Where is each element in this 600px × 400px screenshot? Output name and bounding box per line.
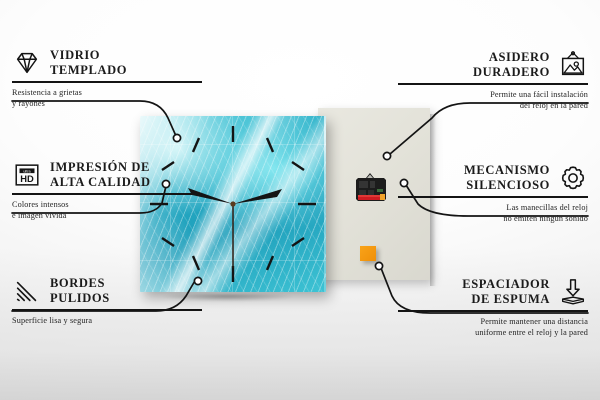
ultra-hd-icon-large-text: HD [20, 174, 34, 184]
feature-description-line1: Las manecillas del reloj [398, 202, 588, 213]
feature-description-line1: Permite mantener una distancia [398, 316, 588, 327]
divider [12, 309, 202, 311]
divider [12, 81, 202, 83]
feature-title-line1: ESPACIADOR [462, 277, 550, 292]
feature-title-line2: DE ESPUMA [462, 292, 550, 307]
feature-description-line1: Superficie lisa y segura [12, 315, 202, 326]
gear-icon [558, 163, 588, 193]
connector-dot-asidero [383, 152, 390, 159]
hanging-picture-icon [558, 50, 588, 80]
divider [12, 193, 202, 195]
feature-description-line1: Permite una fácil instalación [398, 89, 588, 100]
feature-description-line2: no emiten ningún sonido [398, 213, 588, 224]
diagonal-stripes-icon [12, 276, 42, 306]
feature-title-line2: TEMPLADO [50, 63, 127, 78]
feature-description-line1: Resistencia a grietas [12, 87, 202, 98]
divider [398, 310, 588, 312]
feature-title-line1: VIDRIO [50, 48, 127, 63]
diamond-icon [12, 48, 42, 78]
connector-dot-vidrio [173, 134, 180, 141]
feature-description-line2: del reloj en la pared [398, 100, 588, 111]
arrow-down-stack-icon [558, 277, 588, 307]
feature-title-line1: BORDES [50, 276, 110, 291]
divider [398, 196, 588, 198]
feature-title-line2: DURADERO [473, 65, 550, 80]
feature-title-line2: PULIDOS [50, 291, 110, 306]
ultra-hd-icon: ultra HD [12, 160, 42, 190]
feature-description-line2: e imagen vívida [12, 210, 202, 221]
feature-mecanismo-silencioso: MECANISMO SILENCIOSO Las manecillas del … [398, 163, 588, 224]
product-infographic: VIDRIO TEMPLADO Resistencia a grietas y … [0, 0, 600, 400]
connector-dot-espaciador [375, 262, 382, 269]
feature-espaciador-de-espuma: ESPACIADOR DE ESPUMA Permite mantener un… [398, 277, 588, 338]
feature-title-line1: IMPRESIÓN DE [50, 160, 151, 175]
feature-title-line2: SILENCIOSO [464, 178, 550, 193]
feature-impresion-alta-calidad: ultra HD IMPRESIÓN DE ALTA CALIDAD Color… [12, 160, 202, 221]
feature-title-line2: ALTA CALIDAD [50, 175, 151, 190]
feature-description-line2: y rayones [12, 98, 202, 109]
feature-vidrio-templado: VIDRIO TEMPLADO Resistencia a grietas y … [12, 48, 202, 109]
feature-description-line1: Colores intensos [12, 199, 202, 210]
feature-title-line1: MECANISMO [464, 163, 550, 178]
feature-title-line1: ASIDERO [473, 50, 550, 65]
ultra-hd-icon-small-text: ultra [23, 169, 31, 173]
feature-bordes-pulidos: BORDES PULIDOS Superficie lisa y segura [12, 276, 202, 326]
divider [398, 83, 588, 85]
feature-description-line2: uniforme entre el reloj y la pared [398, 327, 588, 338]
feature-asidero-duradero: ASIDERO DURADERO Permite una fácil insta… [398, 50, 588, 111]
